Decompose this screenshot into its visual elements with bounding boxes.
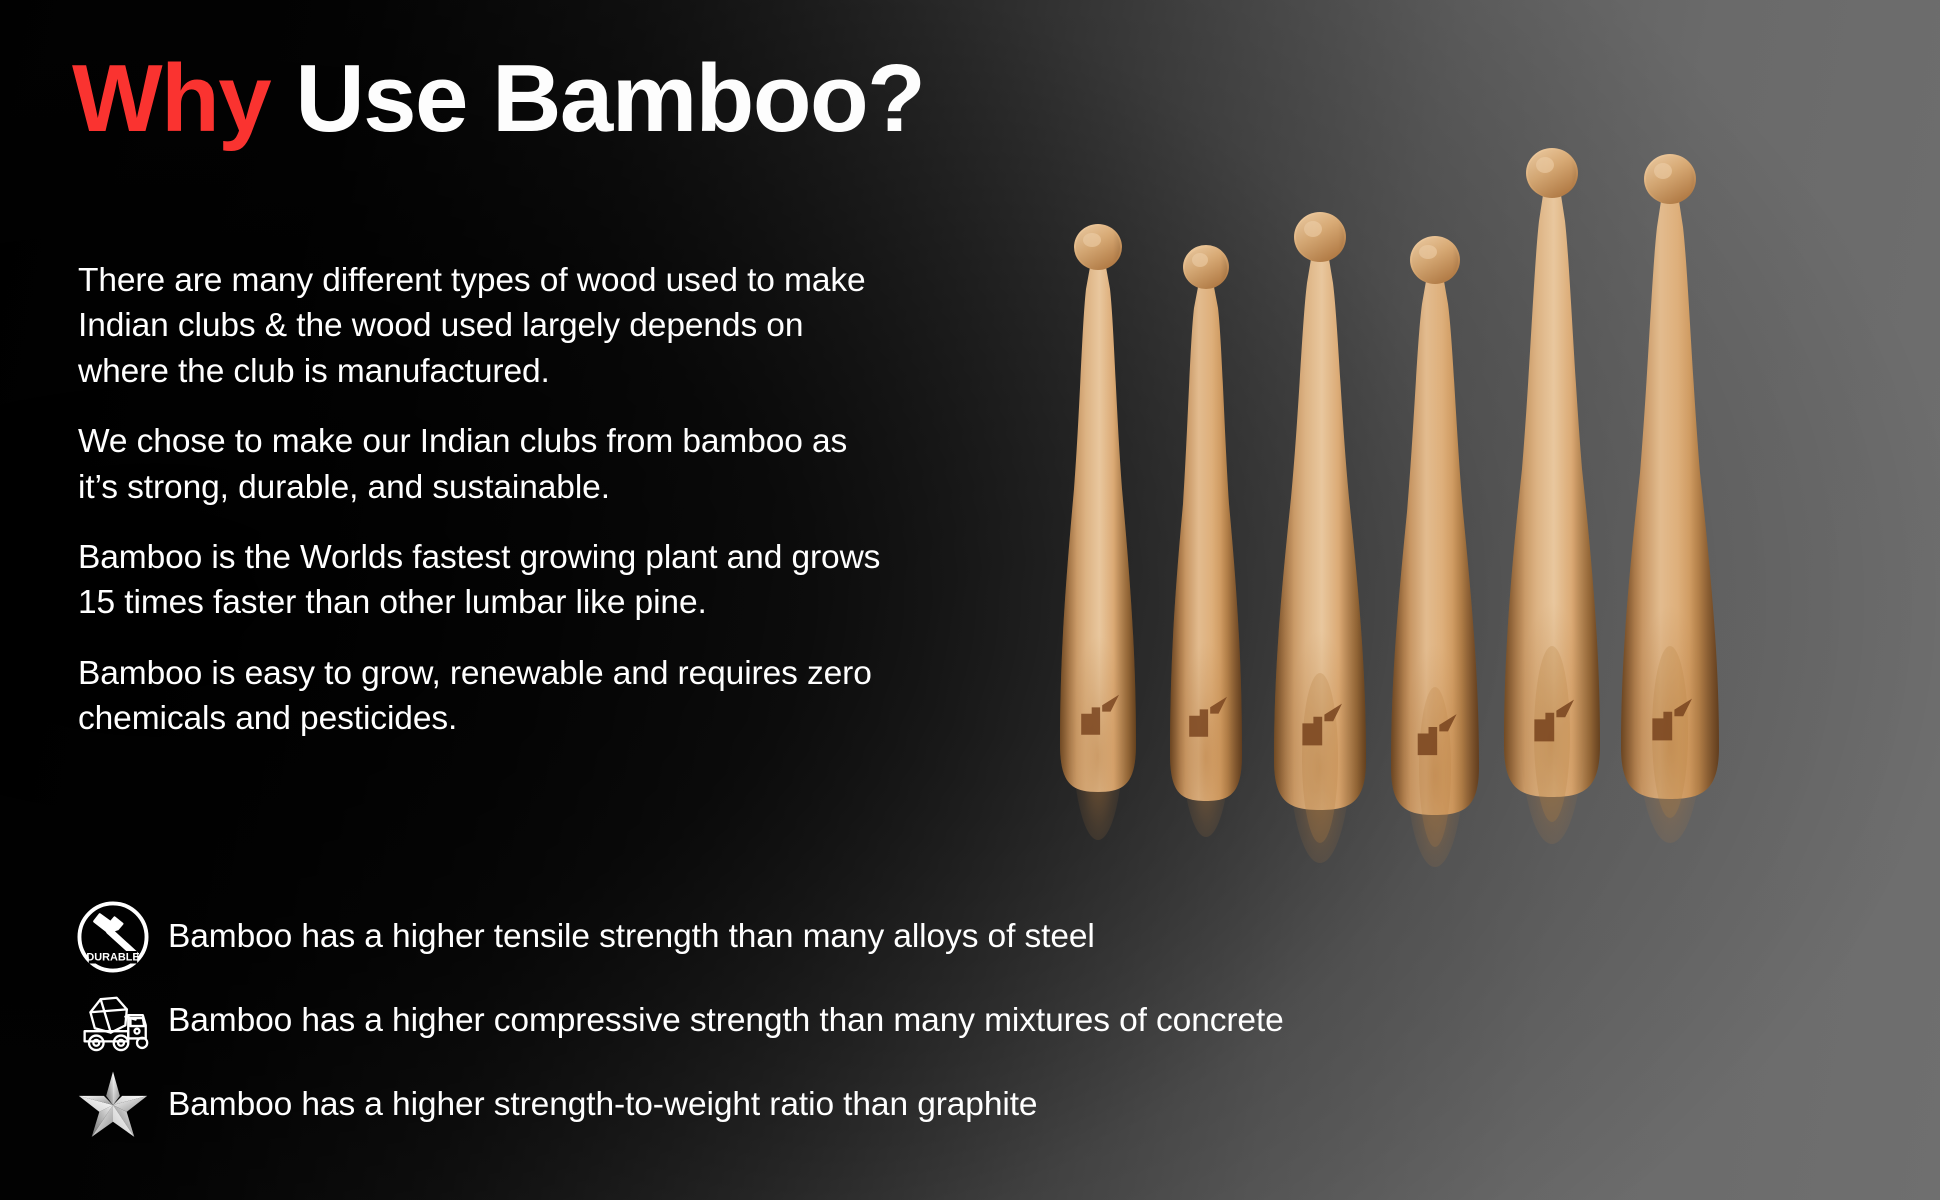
feature-list: DURABLE Bamboo has a higher tensile stre… bbox=[70, 895, 1690, 1147]
title-highlight-word: Why bbox=[72, 45, 270, 152]
bamboo-club-2 bbox=[1170, 245, 1242, 837]
bamboo-club-5 bbox=[1504, 148, 1600, 844]
title-rest: Use Bamboo? bbox=[270, 45, 924, 152]
paragraph-2: We chose to make our Indian clubs from b… bbox=[78, 419, 888, 510]
paragraph-1: There are many different types of wood u… bbox=[78, 258, 888, 394]
feature-row-graphite: Bamboo has a higher strength-to-weight r… bbox=[70, 1063, 1690, 1147]
durable-hammer-badge-icon: DURABLE bbox=[70, 899, 156, 975]
paragraph-4: Bamboo is easy to grow, renewable and re… bbox=[78, 651, 888, 742]
concrete-mixer-truck-icon bbox=[70, 983, 156, 1059]
body-copy: There are many different types of wood u… bbox=[78, 258, 888, 742]
bamboo-club-4 bbox=[1391, 236, 1479, 867]
feature-label-graphite: Bamboo has a higher strength-to-weight r… bbox=[156, 1086, 1037, 1124]
feature-label-durable: Bamboo has a higher tensile strength tha… bbox=[156, 918, 1095, 956]
bamboo-club-6 bbox=[1621, 154, 1719, 843]
bamboo-club-1 bbox=[1060, 224, 1136, 840]
silver-star-icon bbox=[70, 1067, 156, 1143]
durable-badge-text: DURABLE bbox=[86, 951, 139, 963]
feature-row-concrete: Bamboo has a higher compressive strength… bbox=[70, 979, 1690, 1063]
page-title: Why Use Bamboo? bbox=[72, 48, 924, 150]
feature-label-concrete: Bamboo has a higher compressive strength… bbox=[156, 1002, 1284, 1040]
clubs-illustration bbox=[1040, 130, 1940, 920]
bamboo-club-3 bbox=[1274, 212, 1366, 863]
bamboo-clubs-photo bbox=[1040, 130, 1940, 920]
infographic-slide: Why Use Bamboo? There are many different… bbox=[0, 0, 1940, 1200]
paragraph-3: Bamboo is the Worlds fastest growing pla… bbox=[78, 535, 888, 626]
